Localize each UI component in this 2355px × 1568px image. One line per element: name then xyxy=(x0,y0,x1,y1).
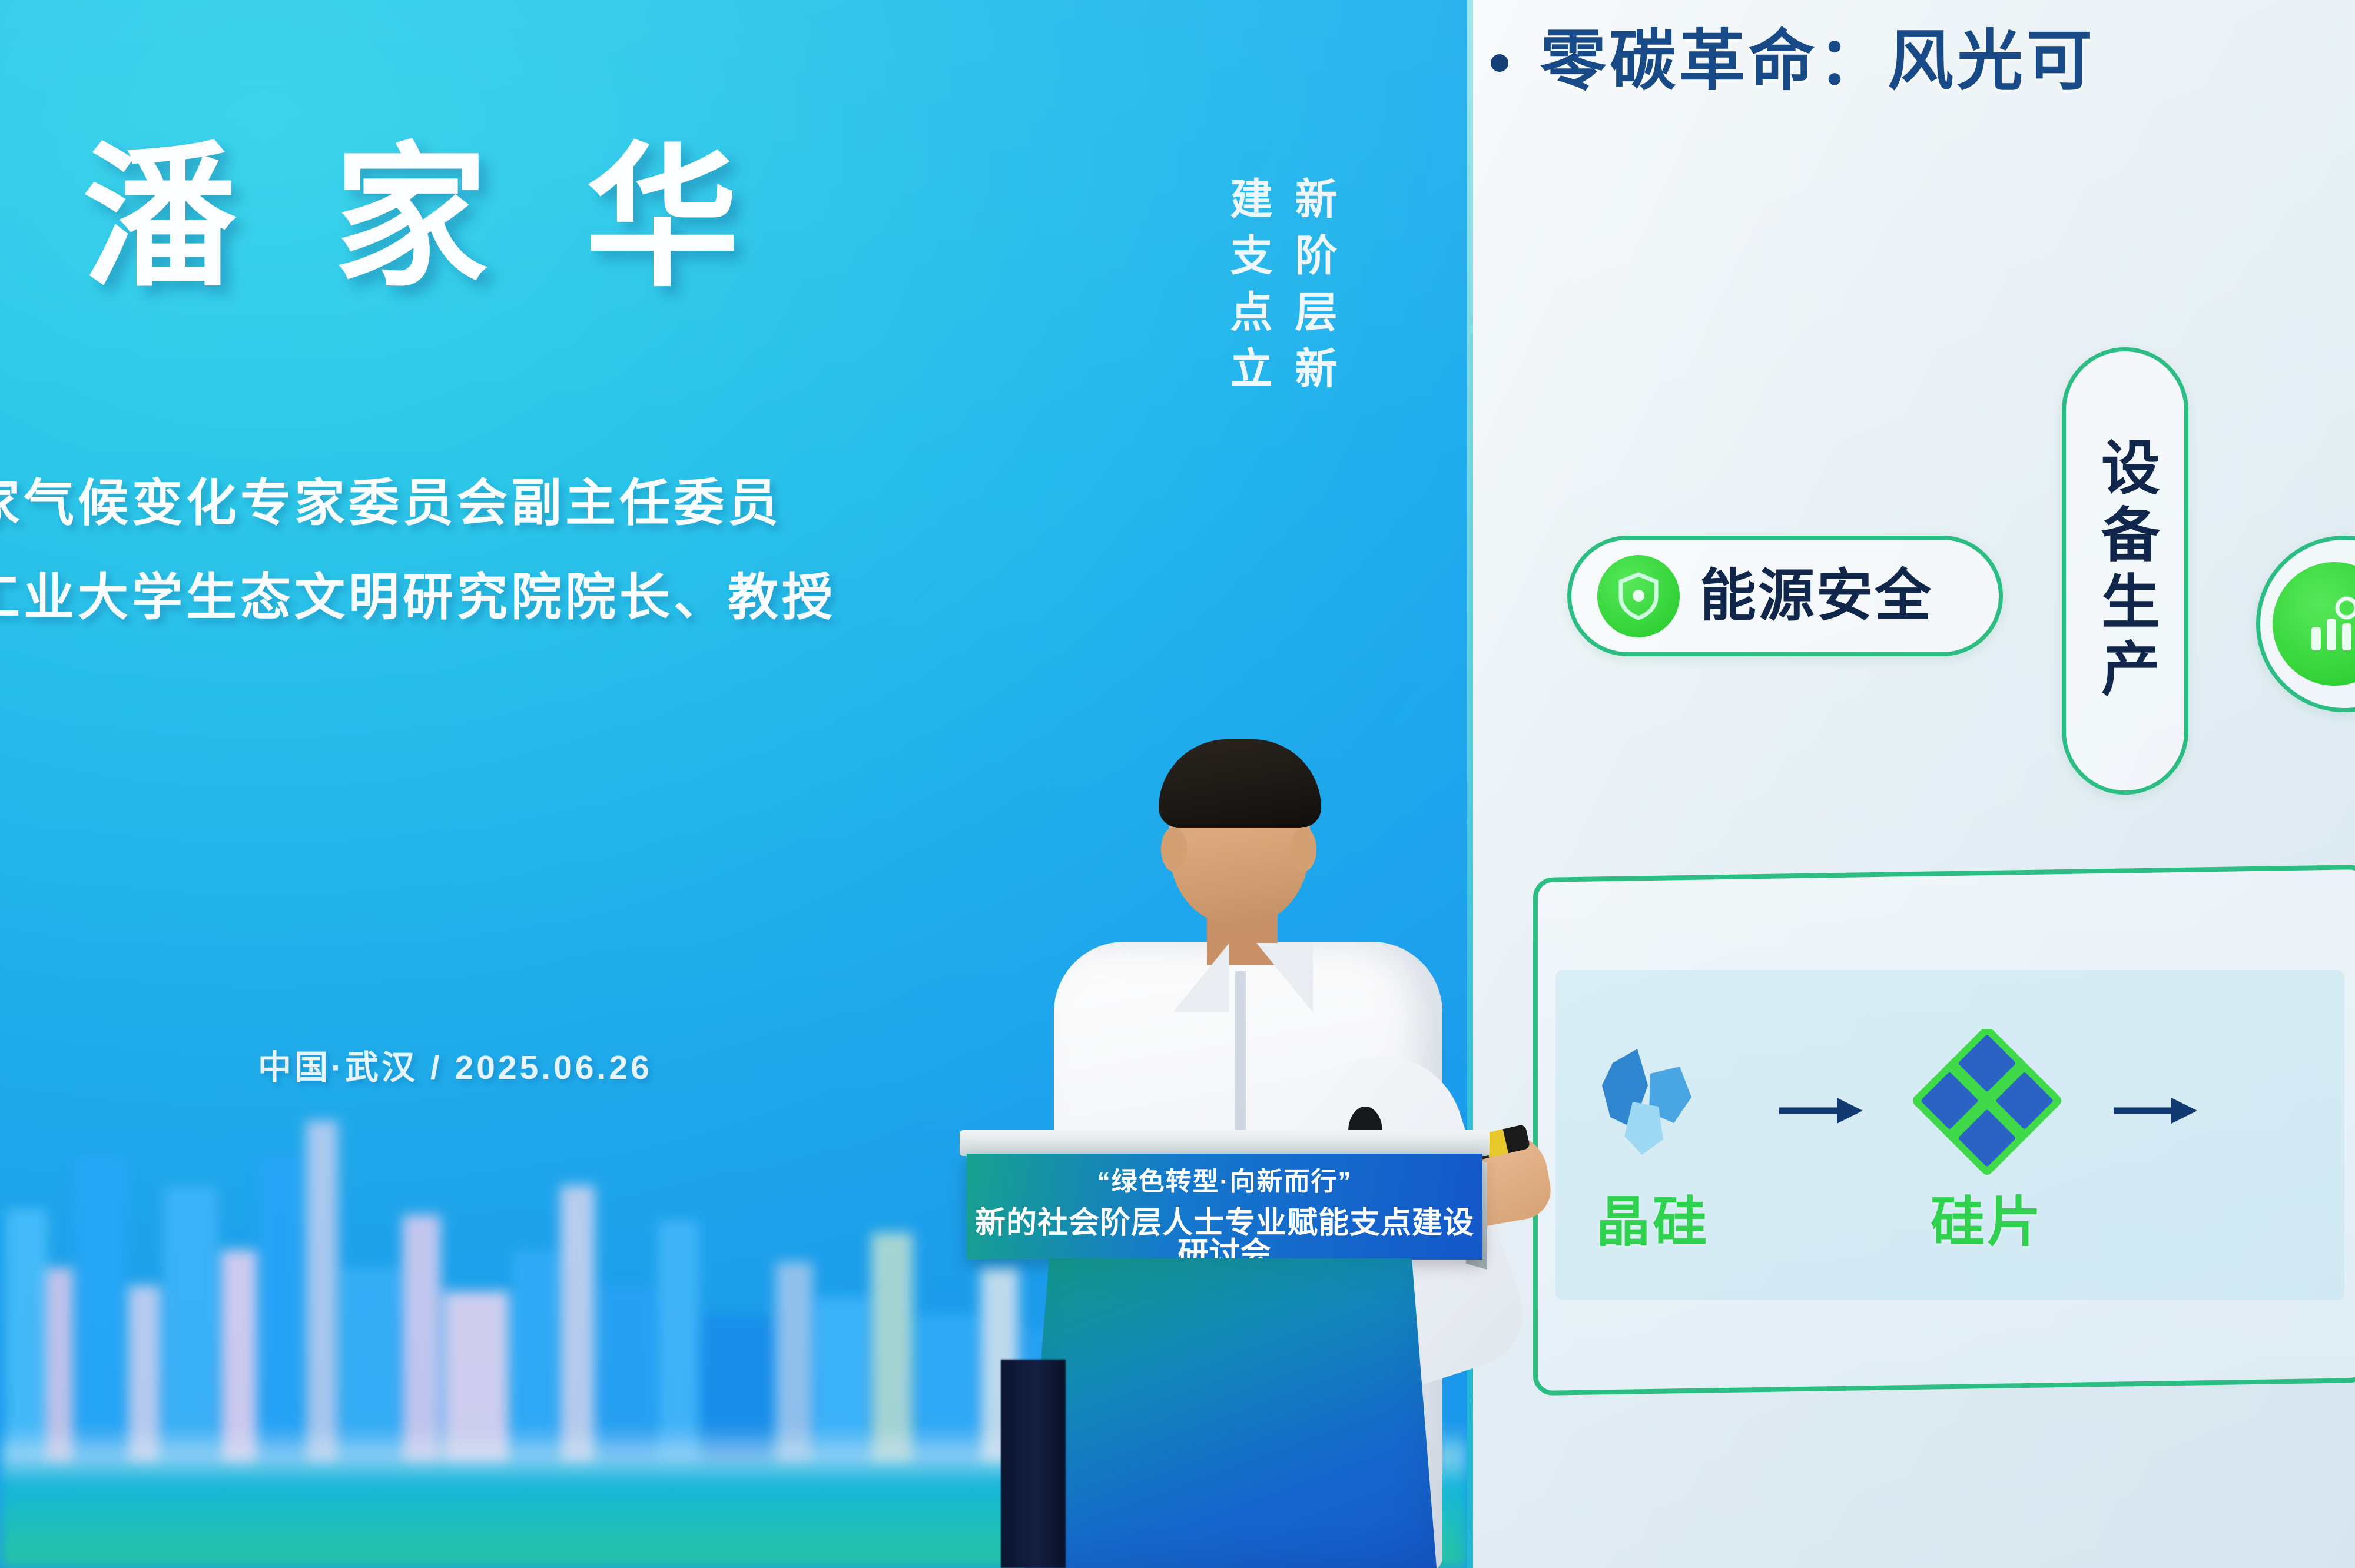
slide-badge-row: 能源安全 设备生产 xyxy=(1532,447,2355,812)
silicon-chunk-icon xyxy=(1576,1029,1729,1179)
podium-vertical-text-right: 新阶层新 xyxy=(1291,177,1333,403)
podium-slogan: “绿色转型·向新而行” xyxy=(967,1169,1482,1195)
event-location-date: 中国·武汉 / 2025.06.26 xyxy=(258,1041,652,1089)
silicon-wafer-icon xyxy=(1899,1029,2075,1179)
speaker-affiliation-line-2: 工业大学生态文明研究院院长、教授 xyxy=(0,572,836,623)
speaker-collar xyxy=(1256,943,1313,1012)
badge-label: 能源安全 xyxy=(1700,568,1933,624)
bar-chart-icon xyxy=(2273,562,2355,686)
badge-label: 设备生产 xyxy=(2096,437,2155,705)
slide-bullet-line: 零碳革命：风光可 xyxy=(1491,20,2355,102)
projection-slide: 零碳革命：风光可 能源安全 设备生产 xyxy=(1467,0,2355,1568)
conference-stage-photo: 潘 家 华 家气候变化专家委员会副主任委员 工业大学生态文明研究院院长、教授 中… xyxy=(0,0,2355,1568)
podium-side-drape xyxy=(1001,1360,1066,1568)
process-diagram-steps: 晶硅 xyxy=(1555,1001,2355,1277)
badge-energy-security: 能源安全 xyxy=(1567,536,2003,656)
speaker-ear xyxy=(1161,827,1187,872)
speaker-affiliation-line-1: 家气候变化专家委员会副主任委员 xyxy=(0,478,782,529)
process-step-label: 硅片 xyxy=(1931,1195,2044,1250)
process-step-label: 晶硅 xyxy=(1596,1195,1709,1250)
building xyxy=(306,1121,338,1462)
badge-equipment-production: 设备生产 xyxy=(2062,347,2188,795)
building xyxy=(164,1185,218,1462)
arrow-right-icon xyxy=(2110,1093,2198,1128)
building xyxy=(658,1221,698,1462)
podium-vertical-text-left: 建支点立 xyxy=(1226,177,1268,403)
podium-front-panel: “绿色转型·向新而行” 新的社会阶层人士专业赋能支点建设研讨会 xyxy=(967,1154,1482,1260)
speaker-ear xyxy=(1291,827,1316,872)
speaker-collar xyxy=(1173,943,1229,1012)
process-step: 硅片 xyxy=(1890,1029,2084,1250)
podium-body xyxy=(1024,1258,1437,1568)
building xyxy=(259,1156,301,1462)
building xyxy=(6,1209,47,1462)
speaker-hair xyxy=(1159,739,1321,828)
speaker-name: 潘 家 华 xyxy=(82,141,767,295)
shield-icon xyxy=(1597,555,1680,637)
slide-bullet-text: 零碳革命：风光可 xyxy=(1540,28,2096,94)
building xyxy=(75,1156,126,1462)
badge-chart xyxy=(2256,536,2355,712)
building xyxy=(560,1185,595,1462)
podium-top-surface xyxy=(960,1130,1490,1156)
bullet-dot-icon xyxy=(1491,54,1508,72)
building xyxy=(403,1215,440,1462)
arrow-right-icon xyxy=(1776,1093,1864,1128)
process-step: 晶硅 xyxy=(1555,1029,1750,1250)
